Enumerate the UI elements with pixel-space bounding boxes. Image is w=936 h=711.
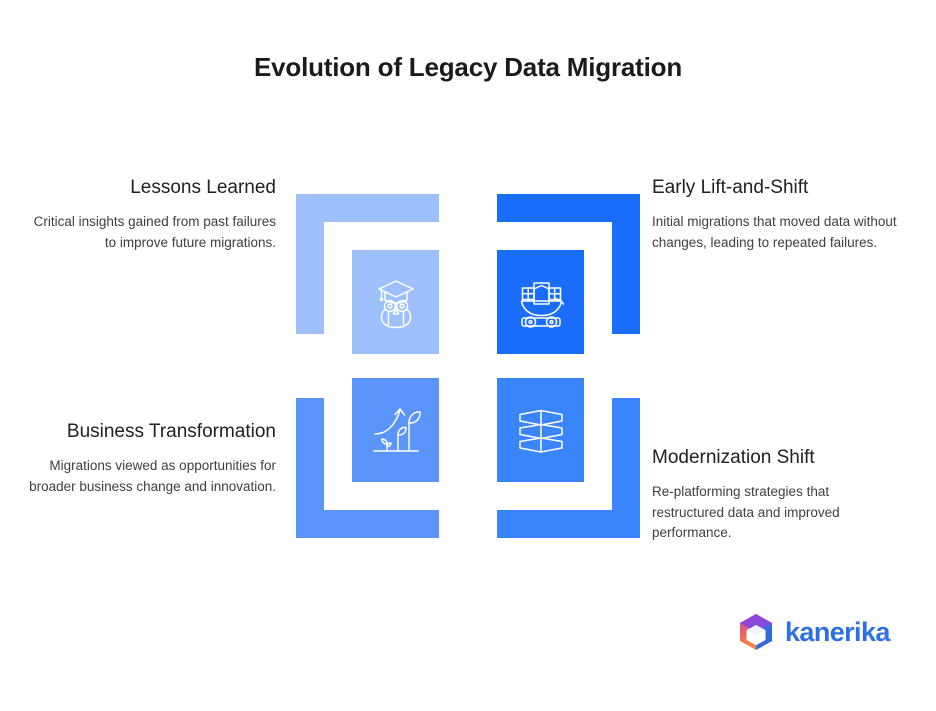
text-block-modernization-shift: Modernization Shift Re-platforming strat… — [652, 446, 900, 544]
quadrant-business-transformation — [296, 378, 456, 538]
icon-tile-business-transformation — [352, 378, 439, 482]
plant-growth-arrow-icon — [365, 399, 427, 461]
quadrant-heading: Lessons Learned — [28, 176, 276, 200]
brand-name: kanerika — [785, 619, 890, 646]
quadrant-modernization-shift — [480, 378, 640, 538]
brand-logo: kanerika — [736, 612, 890, 652]
quadrant-early-lift-and-shift — [480, 194, 640, 354]
quadrant-body: Critical insights gained from past failu… — [28, 212, 276, 253]
cube-logo-icon — [736, 612, 776, 652]
bracket-horizontal-bar — [296, 194, 439, 222]
bracket-horizontal-bar — [497, 194, 640, 222]
bracket-horizontal-bar — [497, 510, 640, 538]
icon-tile-modernization-shift — [497, 378, 584, 482]
quadrant-body: Initial migrations that moved data witho… — [652, 212, 900, 253]
owl-graduate-icon — [365, 271, 427, 333]
bracket-horizontal-bar — [296, 510, 439, 538]
quadrant-heading: Business Transformation — [28, 420, 276, 444]
stacked-layers-icon — [510, 399, 572, 461]
icon-tile-lessons-learned — [352, 250, 439, 354]
mine-cart-boxes-icon — [510, 271, 572, 333]
quadrant-heading: Modernization Shift — [652, 446, 900, 470]
quadrant-graphic — [296, 194, 640, 538]
icon-tile-early-lift-and-shift — [497, 250, 584, 354]
quadrant-body: Migrations viewed as opportunities for b… — [28, 456, 276, 497]
text-block-early-lift-and-shift: Early Lift-and-Shift Initial migrations … — [652, 176, 900, 253]
quadrant-heading: Early Lift-and-Shift — [652, 176, 900, 200]
text-block-business-transformation: Business Transformation Migrations viewe… — [28, 420, 276, 497]
page-title: Evolution of Legacy Data Migration — [0, 52, 936, 83]
quadrant-lessons-learned — [296, 194, 456, 354]
text-block-lessons-learned: Lessons Learned Critical insights gained… — [28, 176, 276, 253]
quadrant-body: Re-platforming strategies that restructu… — [652, 482, 900, 544]
